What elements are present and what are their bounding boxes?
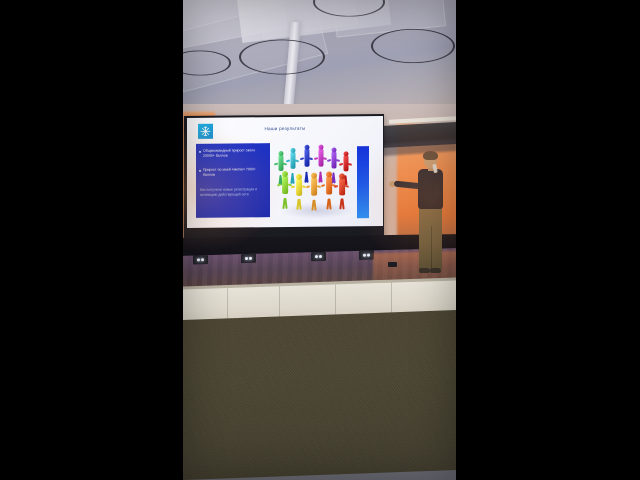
slide-bullet: Общекомандный прирост около 20000+ балло…: [199, 148, 267, 158]
person-leg: [313, 199, 316, 211]
led-lens: [367, 254, 370, 257]
person-arm: [334, 185, 338, 188]
presenter-trousers: [419, 206, 442, 270]
presenter: [405, 152, 453, 276]
led-lens: [201, 258, 204, 261]
person-head: [339, 173, 345, 179]
presenter-hair: [423, 151, 438, 160]
person-head: [326, 171, 332, 177]
photo-frame: Наши результаты Общекомандный прирост ок…: [0, 0, 640, 480]
led-lens: [245, 257, 248, 260]
person-figure: [303, 145, 310, 183]
presentation-screen: Наши результаты Общекомандный прирост ок…: [184, 114, 384, 242]
person-body: [318, 149, 323, 167]
presenter-shoe: [430, 268, 441, 273]
person-body: [278, 155, 283, 171]
conference-hall-scene: Наши результаты Общекомандный прирост ок…: [183, 0, 456, 480]
person-leg: [298, 199, 301, 210]
person-leg: [333, 173, 336, 184]
person-head: [278, 151, 283, 156]
slide-accent-bar: [357, 146, 369, 218]
person-arm: [336, 159, 340, 161]
person-arm: [306, 185, 310, 188]
person-arm: [283, 162, 287, 164]
person-arm: [348, 162, 352, 164]
person-body: [304, 149, 309, 167]
ring-light-icon: [239, 40, 325, 75]
bullet-dot-icon: [199, 151, 201, 153]
slide-note-text: Мы получили новые регистрации и активаци…: [200, 187, 267, 197]
led-lens: [315, 255, 318, 258]
presenter-shoe: [419, 268, 430, 273]
person-leg: [341, 199, 344, 210]
led-lens: [197, 258, 200, 261]
person-body: [343, 156, 348, 172]
person-arm: [295, 160, 299, 162]
person-body: [311, 178, 317, 196]
ring-light-icon: [371, 29, 455, 63]
led-lens: [319, 255, 322, 258]
presentation-slide: Наши результаты Общекомандный прирост ок…: [187, 116, 383, 228]
person-arm: [309, 157, 313, 159]
person-head: [331, 147, 336, 152]
person-leg: [306, 171, 309, 183]
person-head: [282, 171, 288, 177]
person-figure: [338, 173, 346, 209]
led-wash-light: [311, 252, 326, 261]
person-head: [318, 145, 323, 150]
person-figure: [325, 171, 333, 209]
person-arm: [321, 184, 325, 187]
led-lens: [249, 257, 252, 260]
person-figure: [295, 174, 303, 210]
person-figure: [310, 173, 318, 211]
people-holding-hands-illustration: [275, 140, 357, 221]
led-wash-light: [359, 250, 374, 259]
person-leg: [284, 198, 287, 210]
led-lens: [363, 254, 366, 257]
person-leg: [328, 198, 331, 210]
person-head: [296, 174, 302, 180]
slide-bullet: Прирост по моей «метке» 7000+ баллов: [199, 167, 267, 177]
person-figure: [281, 171, 289, 209]
slide-bullet-text: Общекомандный прирост около 20000+ балло…: [203, 148, 267, 158]
person-body: [326, 177, 332, 195]
person-arm: [345, 185, 349, 188]
person-head: [304, 145, 309, 150]
led-wash-light: [193, 255, 208, 264]
person-head: [311, 173, 317, 179]
person-body: [296, 179, 302, 196]
slide-bullet-text: Прирост по моей «метке» 7000+ баллов: [203, 167, 267, 177]
person-arm: [277, 183, 281, 186]
trouser-seam: [431, 226, 432, 270]
slide-text-panel: Общекомандный прирост около 20000+ балло…: [196, 143, 270, 218]
pillarbox-right: [456, 0, 640, 480]
person-arm: [291, 186, 295, 189]
person-head: [290, 148, 295, 153]
bullet-dot-icon: [199, 170, 201, 172]
person-body: [290, 152, 295, 169]
pillarbox-left: [0, 0, 183, 480]
person-head: [343, 151, 348, 156]
slide-title: Наши результаты: [187, 125, 383, 132]
person-body: [331, 152, 336, 169]
person-body: [339, 179, 345, 196]
person-leg: [320, 171, 323, 183]
led-wash-light: [241, 254, 256, 263]
equipment-case: [388, 262, 397, 267]
microphone-icon: [432, 164, 437, 173]
person-body: [282, 176, 288, 194]
person-figure: [317, 145, 324, 183]
floor-carpet: [183, 310, 456, 480]
